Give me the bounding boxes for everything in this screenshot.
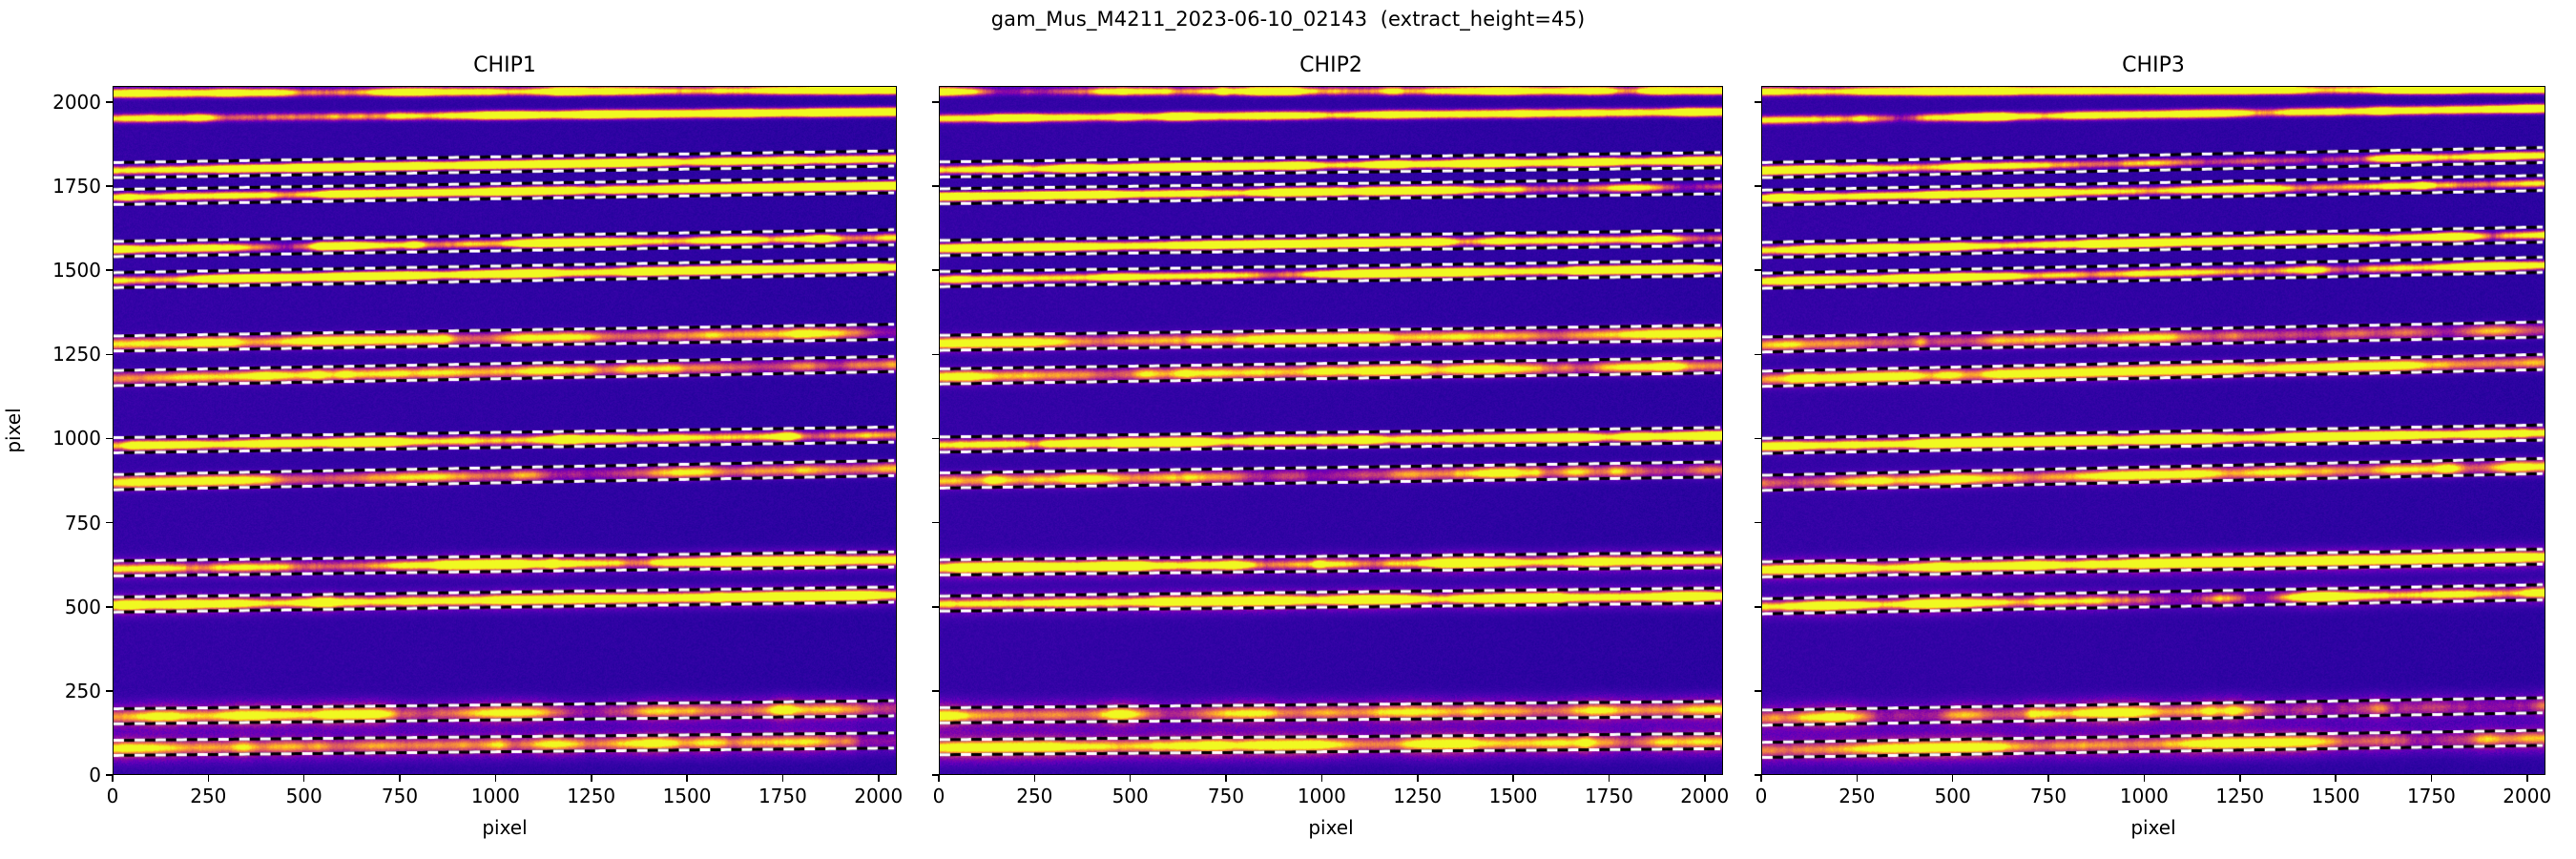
y-tick-label: 2000 xyxy=(31,91,101,114)
y-tick-mark xyxy=(932,438,939,440)
y-tick-mark xyxy=(106,522,113,524)
x-tick-mark xyxy=(2335,775,2337,782)
x-tick-label: 1000 xyxy=(1298,785,1346,807)
y-tick-mark xyxy=(106,774,113,776)
x-tick-mark xyxy=(938,775,940,782)
y-tick-mark xyxy=(932,774,939,776)
x-tick-mark xyxy=(303,775,305,782)
x-tick-label: 2000 xyxy=(1680,785,1729,807)
x-tick-label: 250 xyxy=(190,785,226,807)
detector-image-chip2 xyxy=(940,87,1722,774)
x-axis-label-chip1: pixel xyxy=(113,816,897,839)
x-tick-mark xyxy=(1857,775,1859,782)
x-tick-label: 1250 xyxy=(2215,785,2264,807)
x-axis-label-chip2: pixel xyxy=(939,816,1723,839)
x-tick-mark xyxy=(1130,775,1132,782)
figure-canvas: gam_Mus_M4211_2023-06-10_02143 (extract_… xyxy=(0,0,2576,859)
x-tick-mark xyxy=(1034,775,1036,782)
y-tick-mark xyxy=(1755,522,1761,524)
x-tick-label: 750 xyxy=(1208,785,1244,807)
panel-title-chip2: CHIP2 xyxy=(939,52,1723,80)
x-tick-label: 1000 xyxy=(471,785,520,807)
y-tick-mark xyxy=(932,101,939,103)
y-tick-mark xyxy=(1755,185,1761,187)
y-tick-mark xyxy=(1755,606,1761,608)
x-tick-label: 250 xyxy=(1016,785,1052,807)
x-tick-mark xyxy=(1321,775,1323,782)
x-tick-label: 1500 xyxy=(1489,785,1538,807)
y-tick-mark xyxy=(106,269,113,271)
y-tick-label: 1750 xyxy=(31,175,101,198)
x-tick-mark xyxy=(1609,775,1610,782)
y-tick-mark xyxy=(1755,354,1761,356)
x-tick-label: 1000 xyxy=(2120,785,2169,807)
y-tick-mark xyxy=(932,269,939,271)
x-tick-label: 500 xyxy=(286,785,322,807)
x-tick-label: 2000 xyxy=(2503,785,2551,807)
x-tick-mark xyxy=(1704,775,1706,782)
y-tick-mark xyxy=(1755,269,1761,271)
x-tick-label: 500 xyxy=(1935,785,1971,807)
x-tick-mark xyxy=(1512,775,1514,782)
x-tick-label: 1250 xyxy=(567,785,615,807)
y-tick-mark xyxy=(106,690,113,692)
figure-suptitle: gam_Mus_M4211_2023-06-10_02143 (extract_… xyxy=(0,8,2576,31)
x-tick-label: 750 xyxy=(382,785,418,807)
x-tick-label: 0 xyxy=(933,785,945,807)
y-tick-label: 1500 xyxy=(31,259,101,282)
x-tick-label: 500 xyxy=(1112,785,1149,807)
y-tick-mark xyxy=(106,438,113,440)
x-tick-mark xyxy=(399,775,401,782)
x-tick-mark xyxy=(2144,775,2146,782)
x-tick-mark xyxy=(2047,775,2049,782)
y-tick-mark xyxy=(106,354,113,356)
y-tick-label: 250 xyxy=(31,680,101,702)
x-tick-label: 250 xyxy=(1839,785,1875,807)
x-tick-mark xyxy=(878,775,880,782)
x-tick-label: 2000 xyxy=(854,785,903,807)
detector-image-chip1 xyxy=(114,87,896,774)
detector-panel-chip3 xyxy=(1761,86,2545,775)
x-tick-mark xyxy=(2526,775,2528,782)
x-tick-mark xyxy=(1225,775,1227,782)
x-tick-label: 0 xyxy=(1755,785,1768,807)
y-tick-mark xyxy=(106,101,113,103)
x-tick-label: 1500 xyxy=(663,785,712,807)
x-tick-label: 1750 xyxy=(2407,785,2456,807)
x-tick-mark xyxy=(495,775,497,782)
y-tick-label: 0 xyxy=(31,764,101,786)
y-axis-label: pixel xyxy=(2,408,25,452)
y-tick-mark xyxy=(1755,438,1761,440)
y-tick-mark xyxy=(932,354,939,356)
y-tick-mark xyxy=(932,606,939,608)
x-tick-mark xyxy=(112,775,114,782)
panel-title-chip1: CHIP1 xyxy=(113,52,897,80)
x-tick-mark xyxy=(1417,775,1419,782)
x-tick-mark xyxy=(782,775,784,782)
y-tick-label: 750 xyxy=(31,512,101,534)
y-tick-mark xyxy=(932,522,939,524)
y-tick-mark xyxy=(932,185,939,187)
detector-image-chip3 xyxy=(1762,87,2545,774)
y-tick-mark xyxy=(932,690,939,692)
y-tick-label: 500 xyxy=(31,596,101,618)
y-tick-mark xyxy=(106,185,113,187)
x-axis-label-chip3: pixel xyxy=(1761,816,2545,839)
y-tick-label: 1000 xyxy=(31,427,101,450)
x-tick-label: 750 xyxy=(2030,785,2067,807)
x-tick-label: 1500 xyxy=(2312,785,2360,807)
x-tick-mark xyxy=(591,775,592,782)
x-tick-label: 1750 xyxy=(758,785,807,807)
detector-panel-chip2 xyxy=(939,86,1723,775)
x-tick-mark xyxy=(208,775,210,782)
y-tick-mark xyxy=(1755,774,1761,776)
x-tick-label: 0 xyxy=(107,785,119,807)
x-tick-mark xyxy=(2239,775,2241,782)
y-tick-mark xyxy=(1755,690,1761,692)
y-tick-mark xyxy=(1755,101,1761,103)
detector-panel-chip1 xyxy=(113,86,897,775)
panel-title-chip3: CHIP3 xyxy=(1761,52,2545,80)
x-tick-mark xyxy=(1952,775,1954,782)
x-tick-label: 1250 xyxy=(1393,785,1442,807)
x-tick-mark xyxy=(1760,775,1762,782)
y-tick-mark xyxy=(106,606,113,608)
y-tick-label: 1250 xyxy=(31,343,101,366)
x-tick-mark xyxy=(686,775,688,782)
x-tick-mark xyxy=(2431,775,2433,782)
x-tick-label: 1750 xyxy=(1585,785,1633,807)
